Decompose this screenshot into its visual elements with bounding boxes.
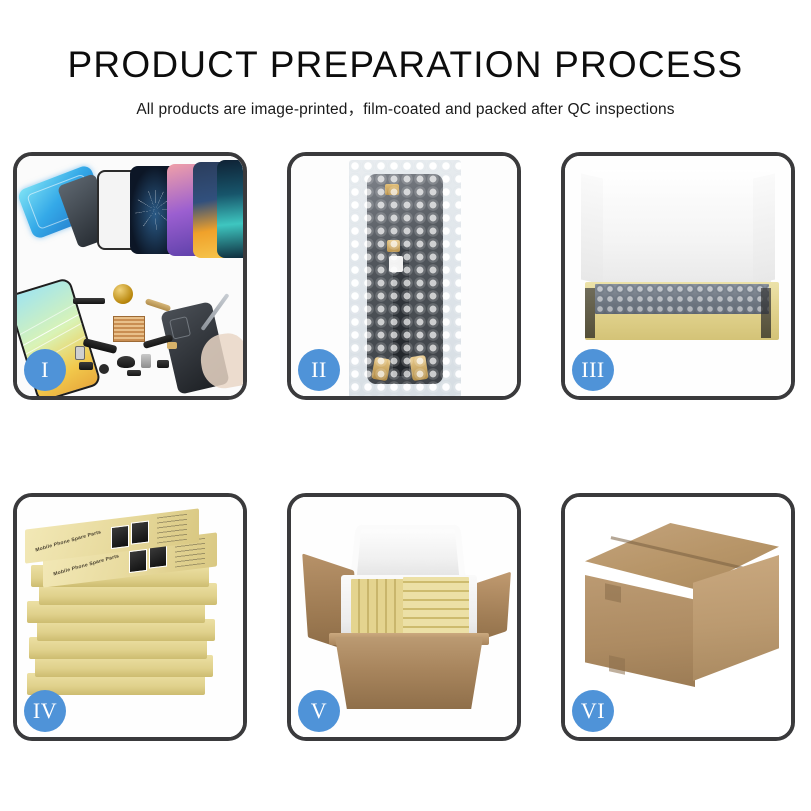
wrapped-gold-connector-icon [385, 184, 399, 195]
step-badge-1: I [24, 349, 66, 391]
box-spec-lines [157, 514, 187, 544]
box-product-thumbnail [111, 525, 129, 549]
chip-array-icon [113, 316, 145, 342]
process-step-panel-1: I [13, 152, 247, 400]
wrapped-gold-connector-icon [387, 240, 400, 252]
process-step-panel-3: III [561, 152, 795, 400]
small-component-icon [99, 364, 109, 374]
small-component-icon [167, 342, 177, 349]
teal-gradient-phone-icon [217, 160, 243, 258]
wrapped-white-component-icon [389, 256, 403, 272]
carton-body-icon [335, 637, 483, 709]
page-title: PRODUCT PREPARATION PROCESS [0, 0, 811, 85]
bubble-wrapped-contents-icon [595, 284, 769, 314]
step-badge-3: III [572, 349, 614, 391]
step-badge-5: V [298, 690, 340, 732]
page-header: PRODUCT PREPARATION PROCESS All products… [0, 0, 811, 119]
step-badge-6: VI [572, 690, 614, 732]
step-badge-2: II [298, 349, 340, 391]
small-component-icon [157, 360, 169, 368]
box-product-thumbnail [131, 520, 149, 544]
packed-gold-boxes-icon [403, 577, 469, 635]
box-lid-icon [591, 170, 771, 298]
bubble-wrap-pouch-icon [349, 160, 461, 396]
process-step-grid: I II [13, 152, 798, 742]
vibration-motor-icon [113, 284, 133, 304]
process-step-panel-5: V [287, 493, 521, 741]
box-brand-label: Mobile Phone Spare Parts [35, 529, 102, 553]
process-step-panel-2: II [287, 152, 521, 400]
box-flap-left-icon [581, 173, 603, 284]
step-badge-4: IV [24, 690, 66, 732]
small-component-icon [79, 362, 93, 370]
wrapped-gold-connector-icon [409, 355, 428, 381]
process-step-panel-4: Mobile Phone Spare Parts Mobile Phone Sp… [13, 493, 247, 741]
small-component-icon [127, 370, 141, 376]
page-subtitle: All products are image-printed，film-coat… [0, 85, 811, 119]
connector-strip-icon [73, 298, 105, 304]
small-component-icon [75, 346, 85, 360]
box-product-thumbnail [129, 549, 147, 573]
box-flap-right-icon [753, 173, 775, 284]
foam-lid-icon [350, 525, 466, 583]
process-step-panel-6: VI [561, 493, 795, 741]
box-corner-icon [761, 288, 771, 338]
carton-tape-icon [605, 583, 621, 602]
small-component-icon [117, 356, 135, 368]
small-component-icon [141, 354, 151, 368]
carton-tape-icon [609, 655, 625, 674]
box-corner-icon [585, 288, 595, 338]
